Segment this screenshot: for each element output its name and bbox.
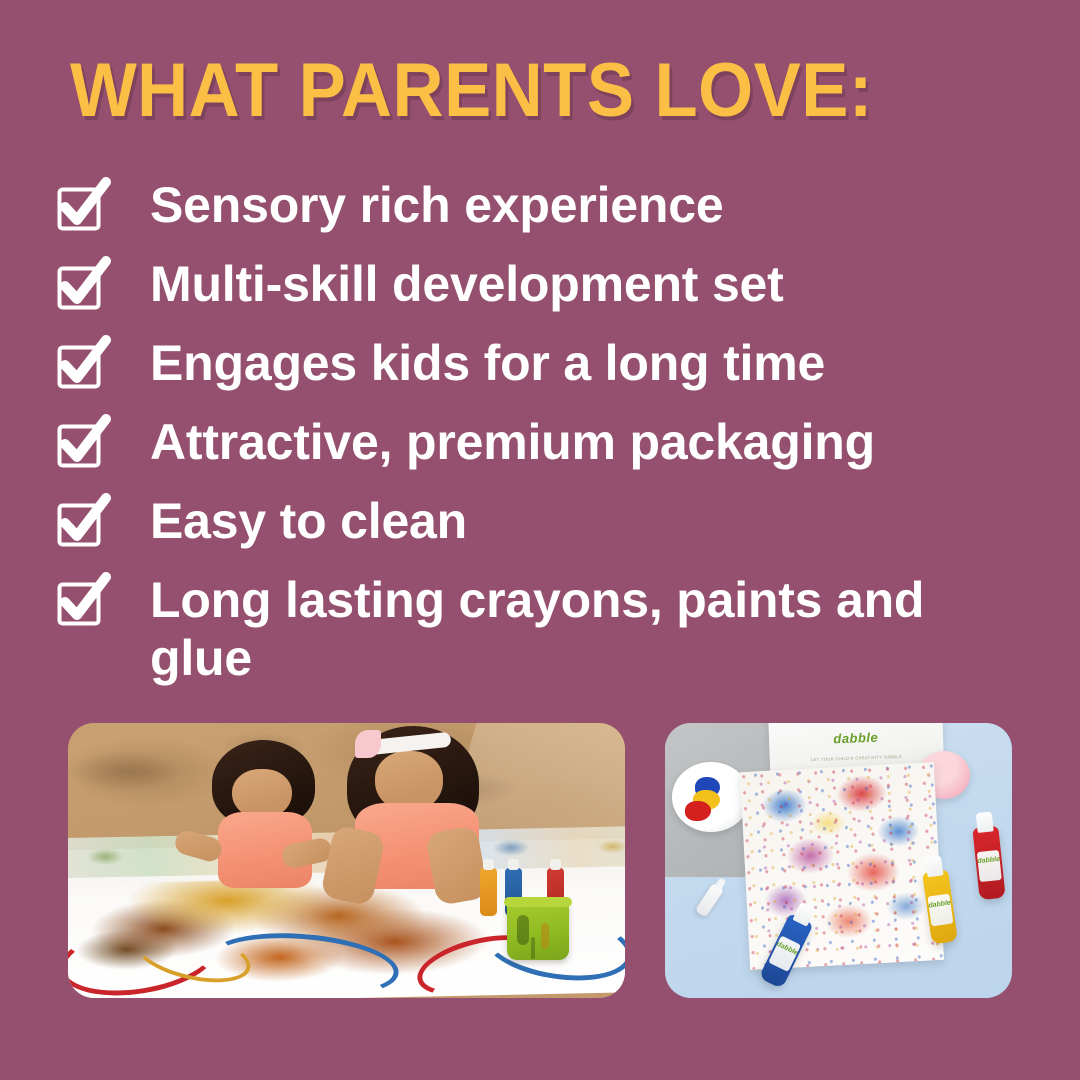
paint-bottle-orange	[480, 868, 497, 916]
list-item-label: Multi-skill development set	[150, 255, 784, 313]
paint-palette-plate	[672, 762, 750, 832]
list-item-label: Engages kids for a long time	[150, 334, 825, 392]
dabble-tagline: LET YOUR CHILD'S CREATIVITY DABBLE	[811, 754, 902, 762]
list-item-label: Long lasting crayons, paints and glue	[150, 571, 1020, 687]
page-title: WHAT PARENTS LOVE:	[70, 48, 873, 134]
photo-content	[68, 723, 625, 998]
benefits-checklist: Sensory rich experience Multi-skill deve…	[56, 176, 1036, 708]
list-item: Sensory rich experience	[56, 176, 1036, 234]
arm	[320, 824, 386, 906]
photo-content: dabble LET YOUR CHILD'S CREATIVITY DABBL…	[665, 723, 1012, 998]
checkbox-checked-icon	[56, 417, 108, 469]
bottle-label: dabble	[926, 899, 953, 910]
list-item: Easy to clean	[56, 492, 1036, 550]
list-item: Attractive, premium packaging	[56, 413, 1036, 471]
hair-bow	[355, 730, 381, 758]
checkbox-checked-icon	[56, 180, 108, 232]
list-item: Long lasting crayons, paints and glue	[56, 571, 1036, 687]
list-item-label: Sensory rich experience	[150, 176, 723, 234]
infographic-canvas: WHAT PARENTS LOVE: Sensory rich experien…	[0, 0, 1080, 1080]
kids-finger-painting-photo	[68, 723, 625, 998]
checkbox-checked-icon	[56, 575, 108, 627]
checkbox-checked-icon	[56, 259, 108, 311]
sponge-painted-artwork	[740, 762, 944, 970]
checkbox-checked-icon	[56, 338, 108, 390]
paint-dab-red	[685, 801, 711, 821]
bottle-label: dabble	[773, 940, 799, 958]
paint-bucket	[507, 902, 569, 960]
checkbox-checked-icon	[56, 496, 108, 548]
dabble-logo: dabble	[833, 730, 878, 747]
paint-texture	[740, 762, 944, 970]
list-item: Engages kids for a long time	[56, 334, 1036, 392]
list-item-label: Attractive, premium packaging	[150, 413, 875, 471]
list-item: Multi-skill development set	[56, 255, 1036, 313]
dabble-art-kit-flatlay-photo: dabble LET YOUR CHILD'S CREATIVITY DABBL…	[665, 723, 1012, 998]
list-item-label: Easy to clean	[150, 492, 467, 550]
bottle-label: dabble	[975, 856, 1002, 866]
